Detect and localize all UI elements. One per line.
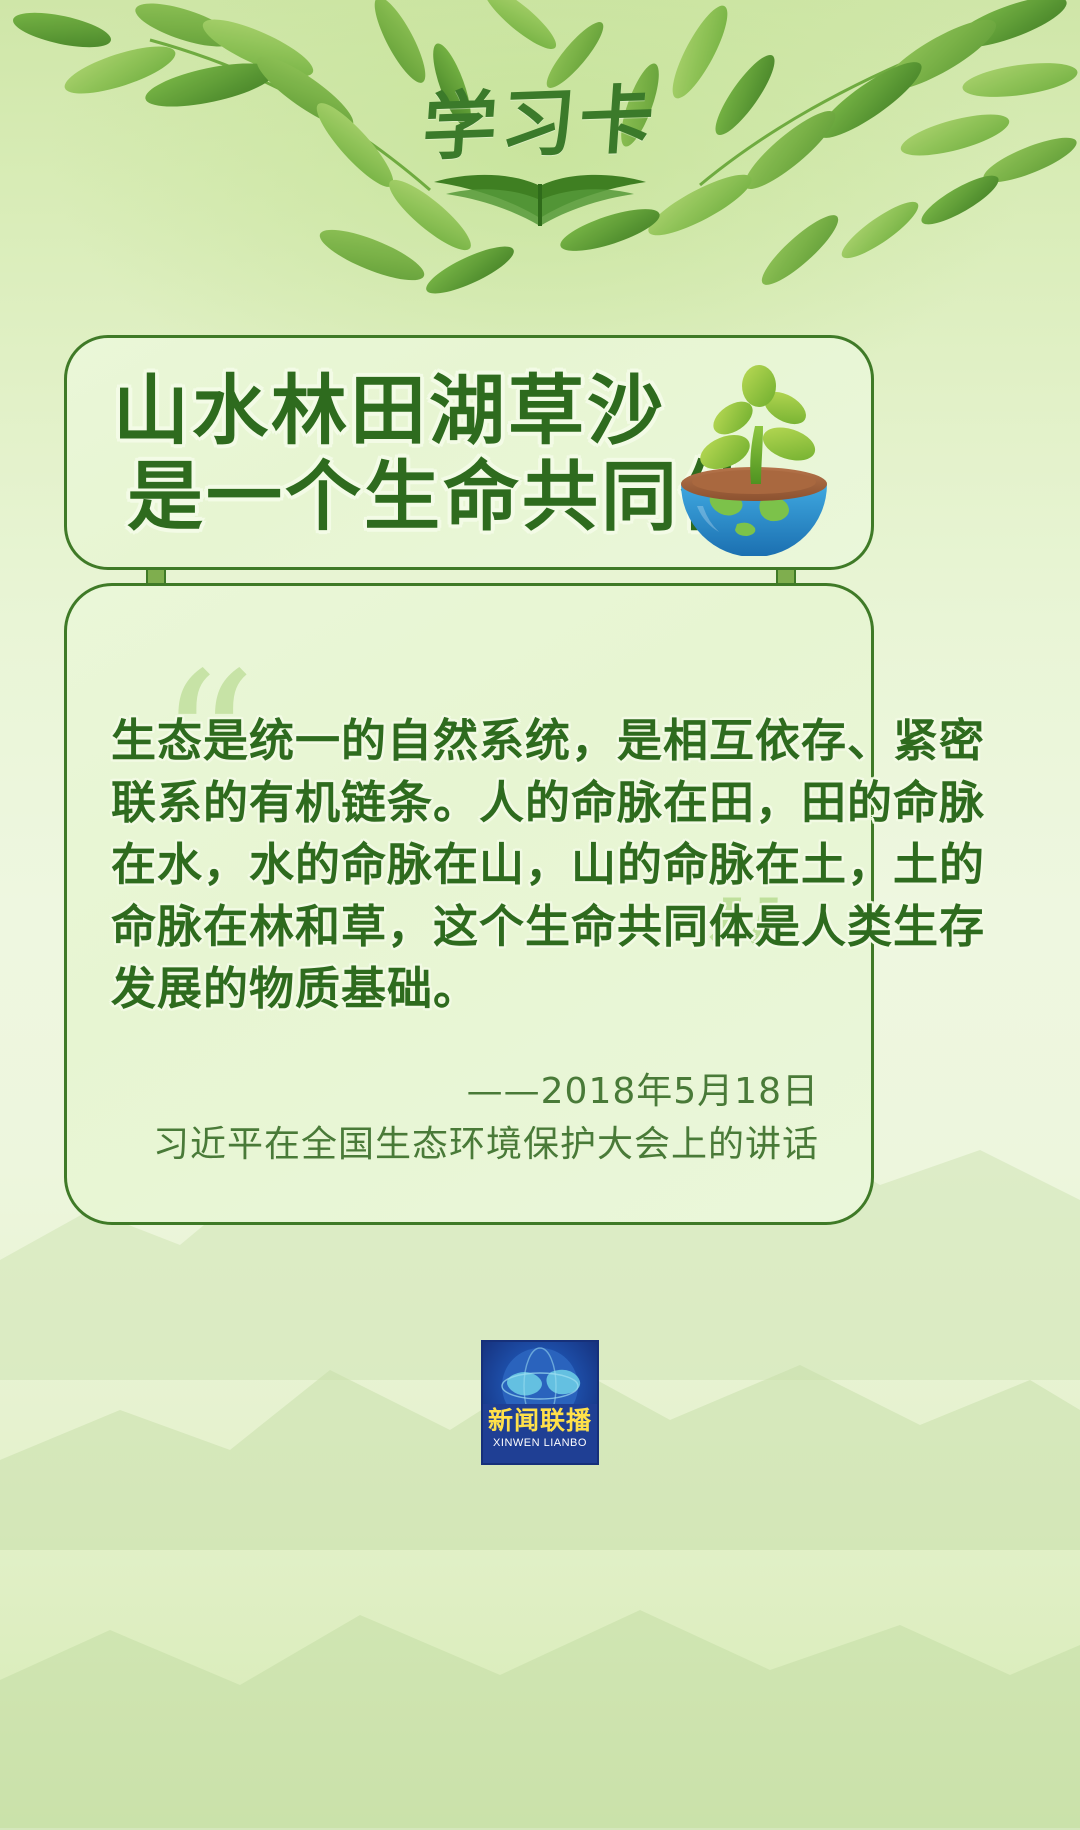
quote-line: 联系的有机链条。人的命脉在田，田的命脉 [111, 772, 839, 834]
attribution-source: 习近平在全国生态环境保护大会上的讲话 [153, 1118, 819, 1172]
badge-label-cn: 新闻联播 [488, 1406, 592, 1436]
xinwen-lianbo-logo: 新闻联播 XINWEN LIANBO [481, 1340, 599, 1465]
mountain-silhouette-near [0, 1430, 1080, 1830]
title-block: 山水林田湖草沙 是一个生命共同体 [113, 368, 733, 540]
title-line-2: 是一个生命共同体 [113, 454, 733, 540]
sprout-in-globe-bowl-icon [659, 356, 849, 556]
title-line-1: 山水林田湖草沙 [113, 368, 733, 454]
badge-label-en: XINWEN LIANBO [493, 1436, 587, 1450]
brand-logo-text: 学习卡 [420, 84, 660, 166]
quote-line: 在水，水的命脉在山，山的命脉在土，土的 [111, 834, 839, 896]
quote-card: “ ” 生态是统一的自然系统，是相互依存、紧密 联系的有机链条。人的命脉在田，田… [64, 583, 874, 1225]
attribution-date: ——2018年5月18日 [153, 1066, 819, 1118]
brand-logo: 学习卡 [0, 88, 1080, 241]
quote-line: 命脉在林和草，这个生命共同体是人类生存 [111, 896, 839, 958]
poster-background: 学习卡 山水林田湖草沙 是一个生命共同体 [0, 0, 1080, 1828]
attribution: ——2018年5月18日 习近平在全国生态环境保护大会上的讲话 [153, 1066, 819, 1172]
quote-text: 生态是统一的自然系统，是相互依存、紧密 联系的有机链条。人的命脉在田，田的命脉 … [111, 710, 839, 1020]
open-book-icon [420, 166, 660, 241]
title-card: 山水林田湖草沙 是一个生命共同体 [64, 335, 874, 570]
quote-line: 发展的物质基础。 [111, 958, 839, 1020]
globe-icon [481, 1342, 599, 1404]
quote-line: 生态是统一的自然系统，是相互依存、紧密 [111, 710, 839, 772]
